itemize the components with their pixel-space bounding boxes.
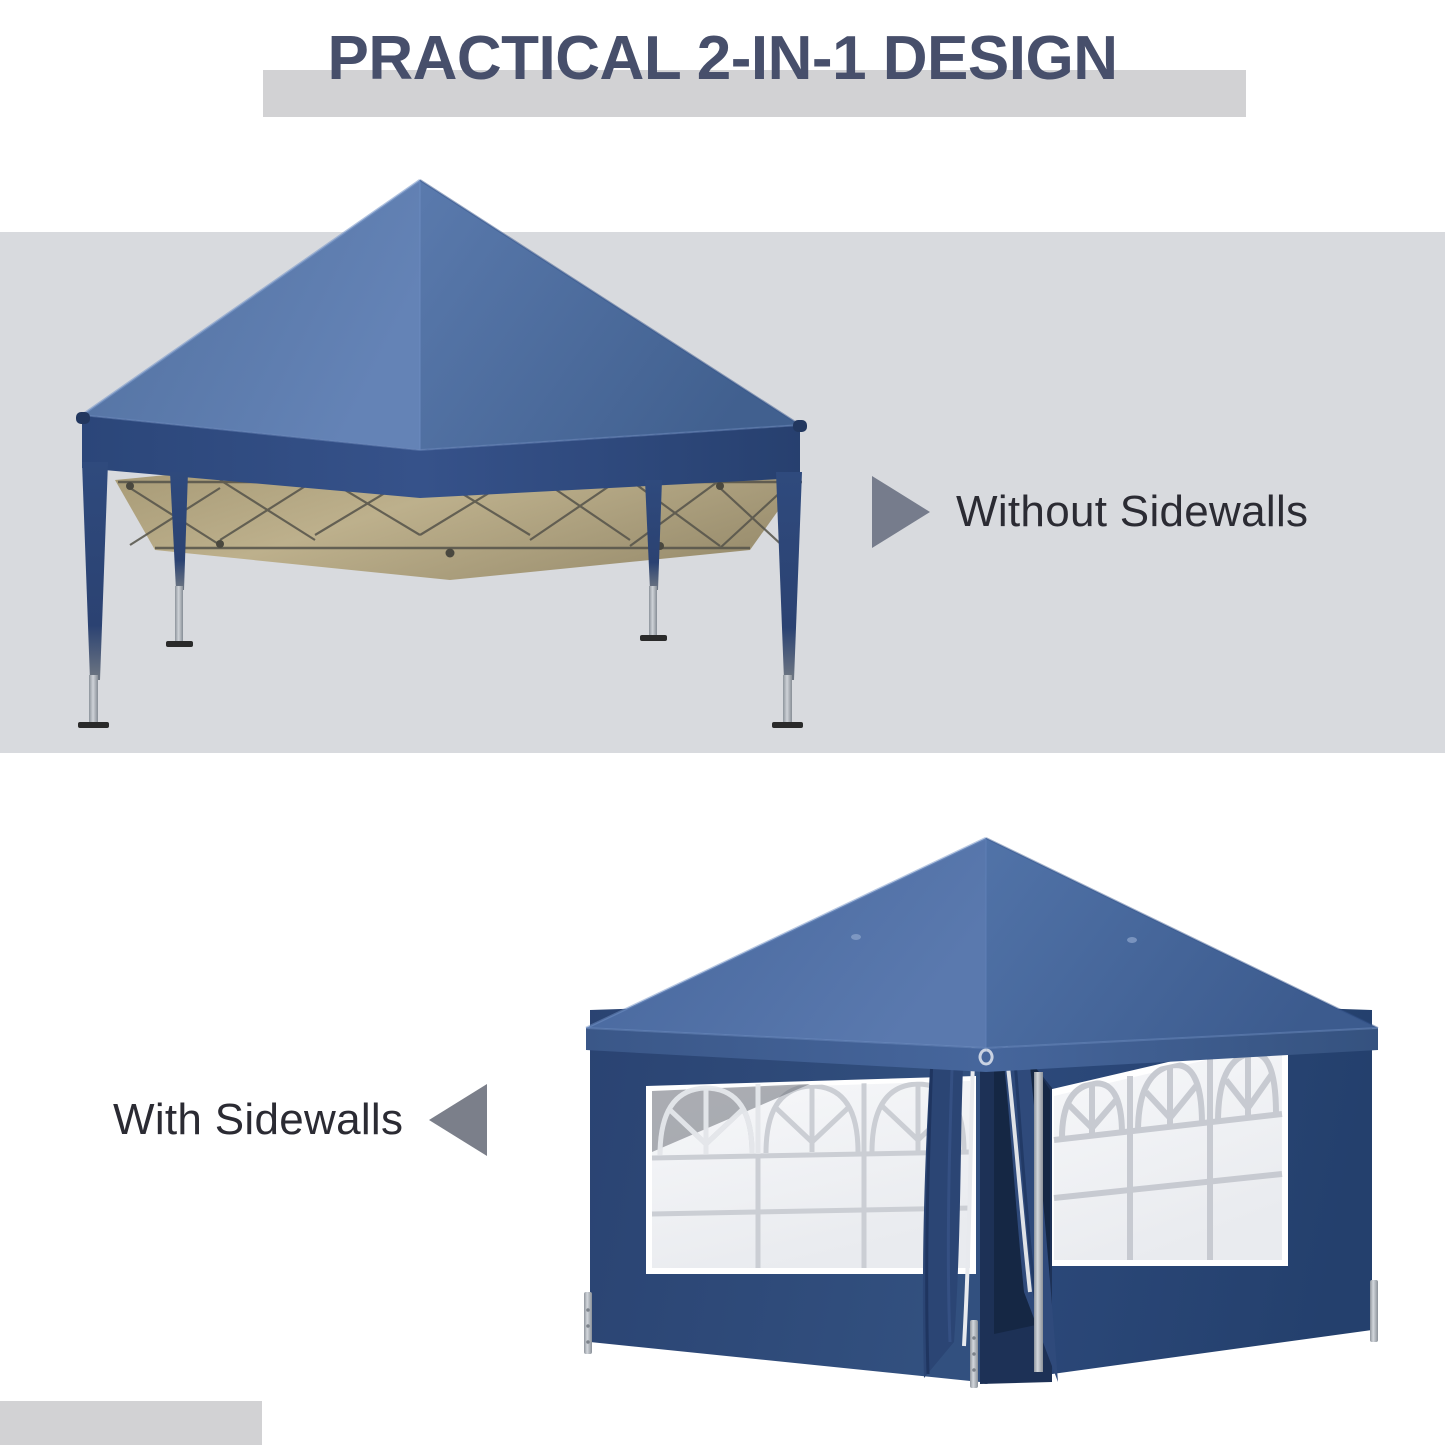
product-infographic: PRACTICAL 2-IN-1 DESIGN [0, 0, 1445, 1445]
gazebo-without-sidewalls-image [60, 150, 850, 730]
page-title: PRACTICAL 2-IN-1 DESIGN [0, 28, 1445, 90]
gazebo-with-sidewalls-image [572, 822, 1384, 1422]
triangle-left-icon [429, 1084, 487, 1156]
leg-front-left [78, 462, 109, 728]
door-pole [1034, 1072, 1043, 1372]
corner-accent-band [0, 1401, 262, 1445]
canopy-roof-walled [586, 838, 1378, 1072]
callout-with-sidewalls: With Sidewalls [113, 1084, 487, 1156]
callout-with-sidewalls-label: With Sidewalls [113, 1095, 403, 1145]
callout-without-sidewalls: Without Sidewalls [872, 476, 1308, 548]
callout-without-sidewalls-label: Without Sidewalls [956, 487, 1308, 537]
canopy-roof [82, 180, 800, 450]
triangle-right-icon [872, 476, 930, 548]
